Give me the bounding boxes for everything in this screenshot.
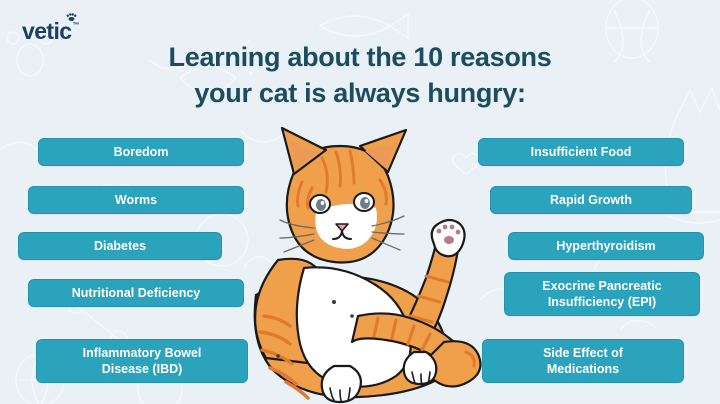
- page-title: Learning about the 10 reasons your cat i…: [0, 40, 720, 111]
- pill-label-line-2: Medications: [547, 361, 619, 377]
- pill-label-line-2: Insufficiency (EPI): [548, 294, 656, 310]
- pill-label: Hyperthyroidism: [556, 238, 655, 254]
- pill-label-line-1: Inflammatory Bowel: [83, 345, 202, 361]
- reason-pill-hyperthyroidism[interactable]: Hyperthyroidism: [508, 232, 704, 260]
- reason-pill-side-effect-of-medications[interactable]: Side Effect of Medications: [482, 339, 684, 383]
- paw-icon: [66, 13, 77, 21]
- reason-pill-diabetes[interactable]: Diabetes: [18, 232, 222, 260]
- pill-label: Nutritional Deficiency: [72, 285, 201, 301]
- pill-label: Insufficient Food: [531, 144, 632, 160]
- reason-pill-inflammatory-bowel-disease[interactable]: Inflammatory Bowel Disease (IBD): [36, 339, 248, 383]
- reason-pill-rapid-growth[interactable]: Rapid Growth: [490, 186, 692, 214]
- reason-pill-insufficient-food[interactable]: Insufficient Food: [478, 138, 684, 166]
- trademark-symbol: ™: [72, 22, 79, 29]
- logo-wordmark: vetic: [22, 20, 71, 43]
- pill-label: Worms: [115, 192, 157, 208]
- pill-label-line-2: Disease (IBD): [102, 361, 183, 377]
- pill-label: Diabetes: [94, 238, 146, 254]
- vetic-logo[interactable]: vetic ™: [22, 20, 79, 43]
- reason-pill-worms[interactable]: Worms: [28, 186, 244, 214]
- pill-label: Rapid Growth: [550, 192, 632, 208]
- reason-pill-nutritional-deficiency[interactable]: Nutritional Deficiency: [28, 279, 244, 307]
- reason-pill-boredom[interactable]: Boredom: [38, 138, 244, 166]
- title-line-1: Learning about the 10 reasons: [0, 40, 720, 76]
- reason-pill-exocrine-pancreatic-insufficiency[interactable]: Exocrine Pancreatic Insufficiency (EPI): [504, 272, 700, 316]
- infographic-canvas: vetic ™ Learning about the 10 reasons yo…: [0, 0, 720, 404]
- pill-label: Boredom: [114, 144, 169, 160]
- title-line-2: your cat is always hungry:: [0, 76, 720, 112]
- orange-tabby-cat-illustration: [238, 120, 488, 404]
- pill-label-line-1: Exocrine Pancreatic: [542, 278, 662, 294]
- pill-label-line-1: Side Effect of: [543, 345, 623, 361]
